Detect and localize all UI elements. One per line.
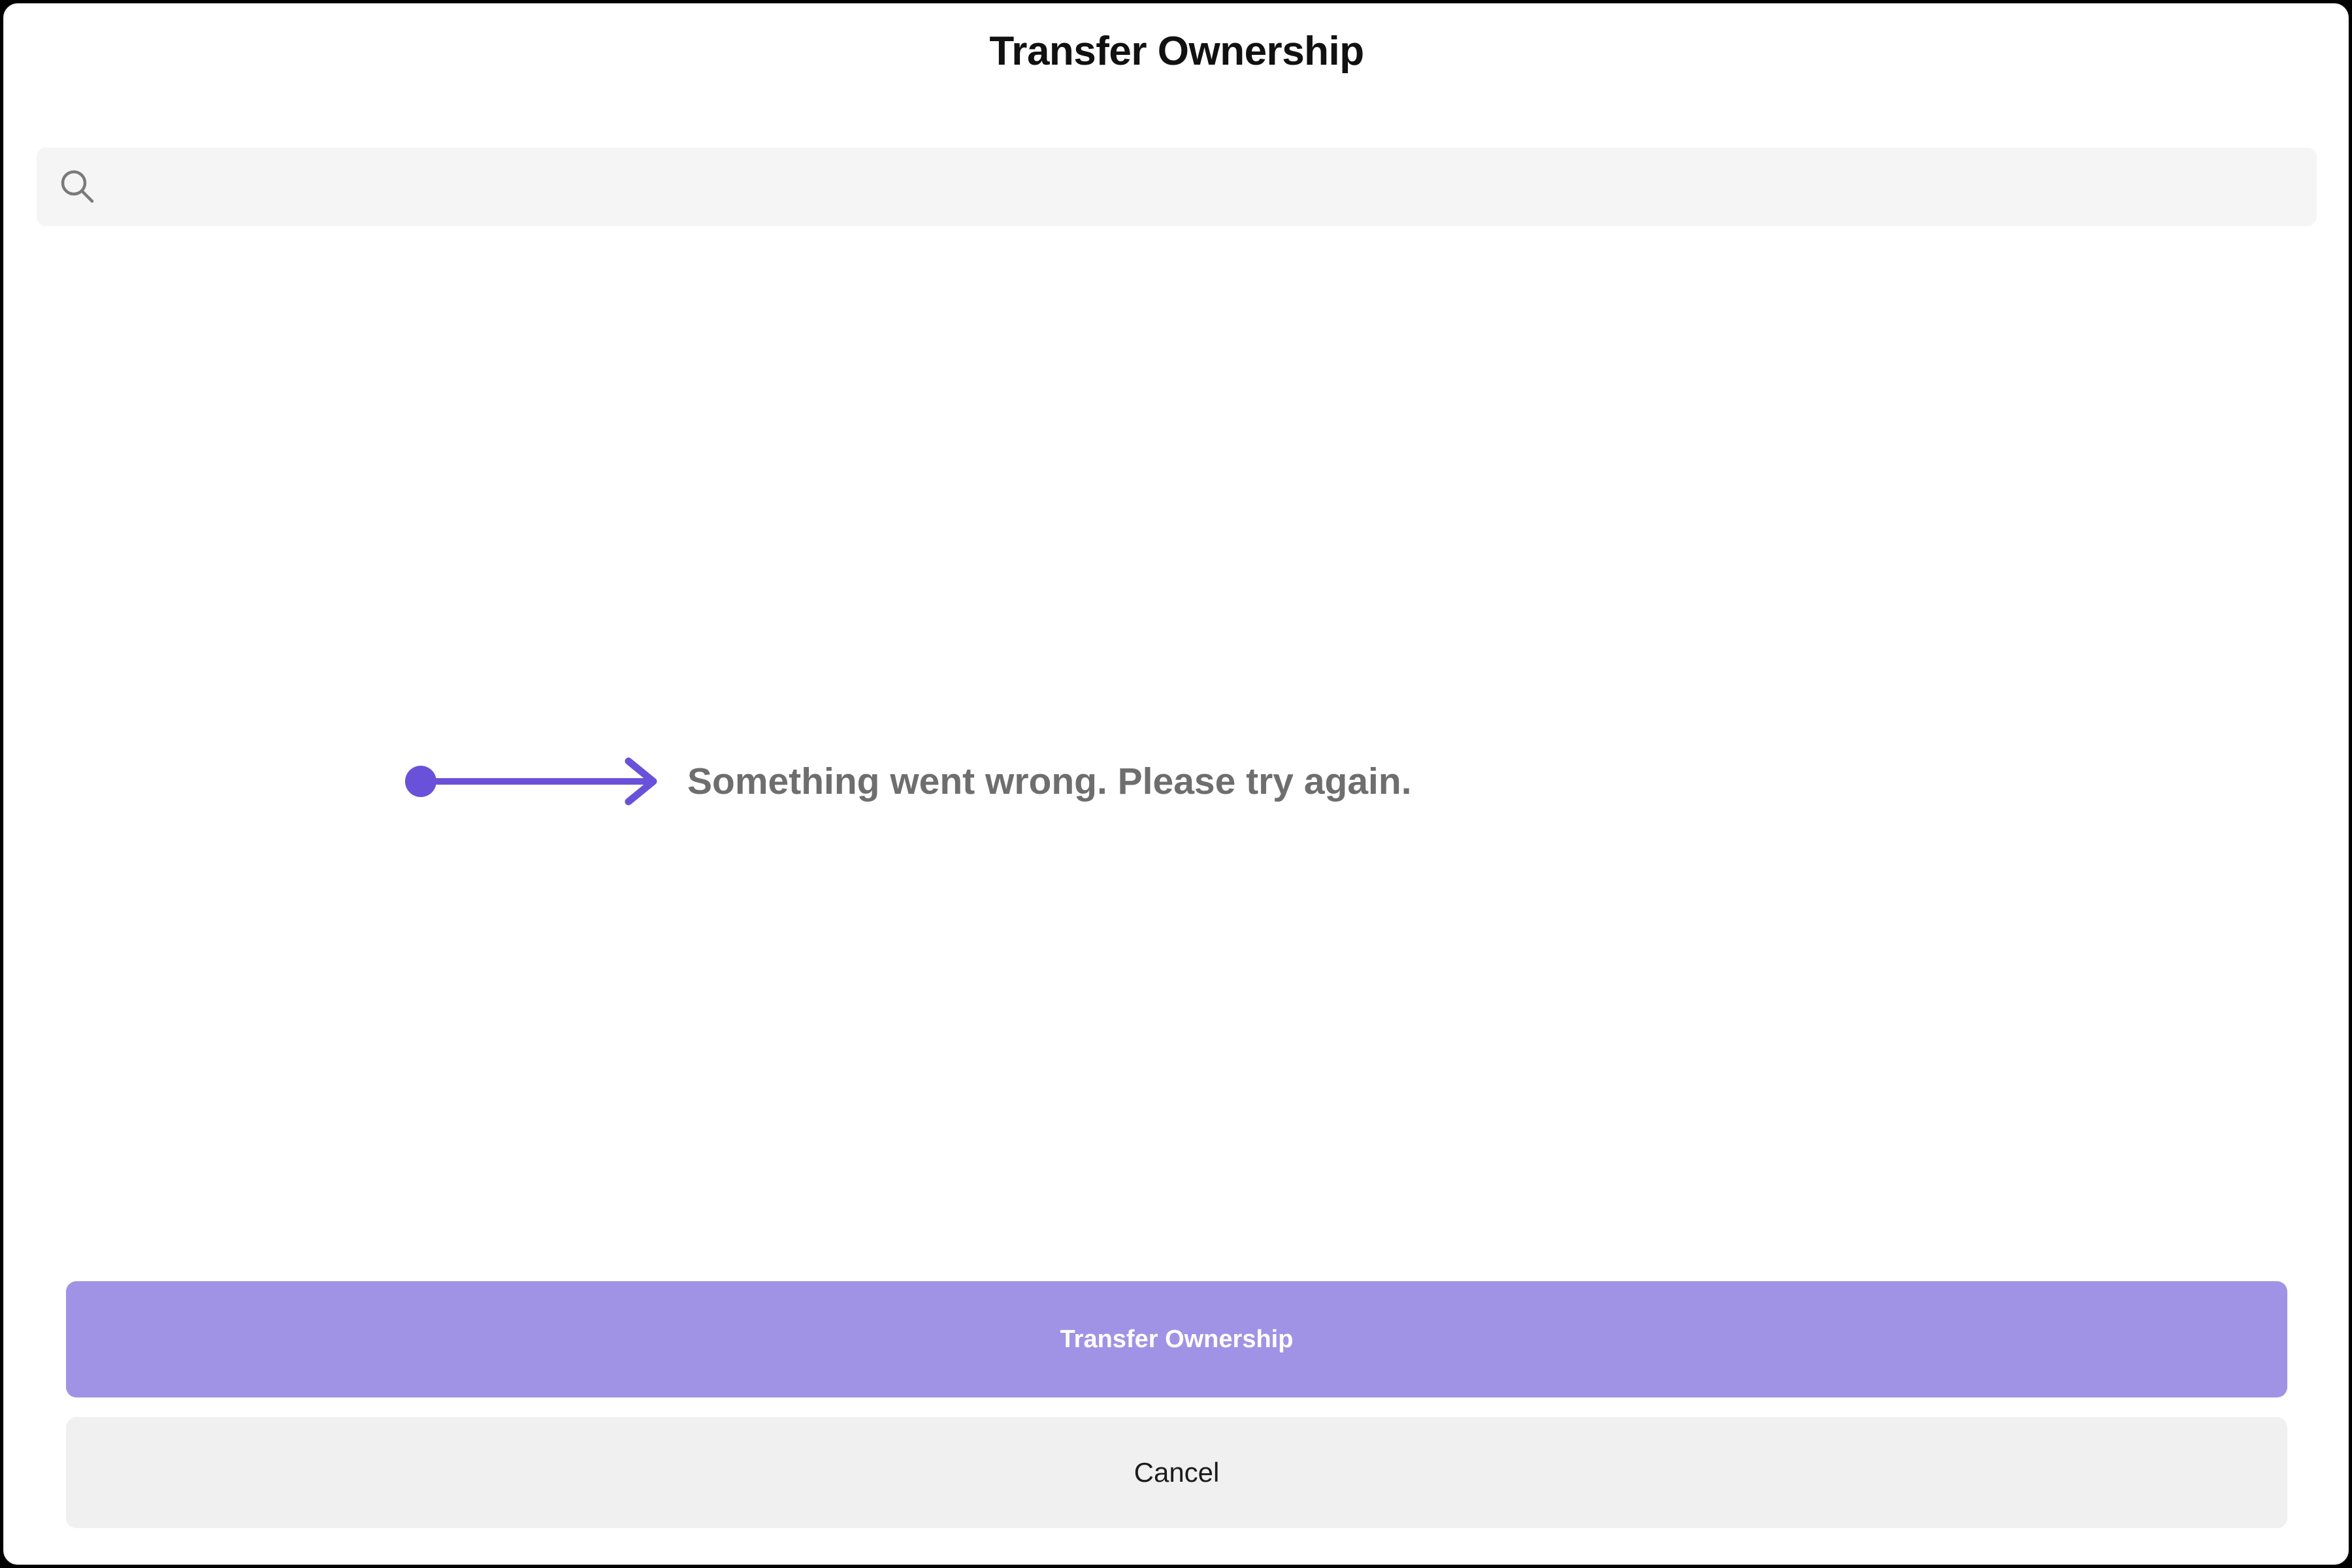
search-input[interactable] <box>141 148 2300 227</box>
footer-actions: Transfer Ownership Cancel <box>66 1281 2287 1528</box>
page-title: Transfer Ownership <box>4 31 2349 72</box>
member-list-content: Something went wrong. Please try again. <box>4 233 2349 1265</box>
error-message: Something went wrong. Please try again. <box>687 763 1412 800</box>
search-icon <box>57 148 98 226</box>
transfer-ownership-button[interactable]: Transfer Ownership <box>66 1281 2287 1397</box>
arrow-right-with-dot-icon <box>404 755 664 808</box>
search-bar[interactable] <box>37 148 2317 226</box>
error-state: Something went wrong. Please try again. <box>404 755 1412 808</box>
transfer-ownership-modal: Transfer Ownership Something went wrong.… <box>3 3 2349 1565</box>
cancel-button[interactable]: Cancel <box>66 1417 2287 1528</box>
